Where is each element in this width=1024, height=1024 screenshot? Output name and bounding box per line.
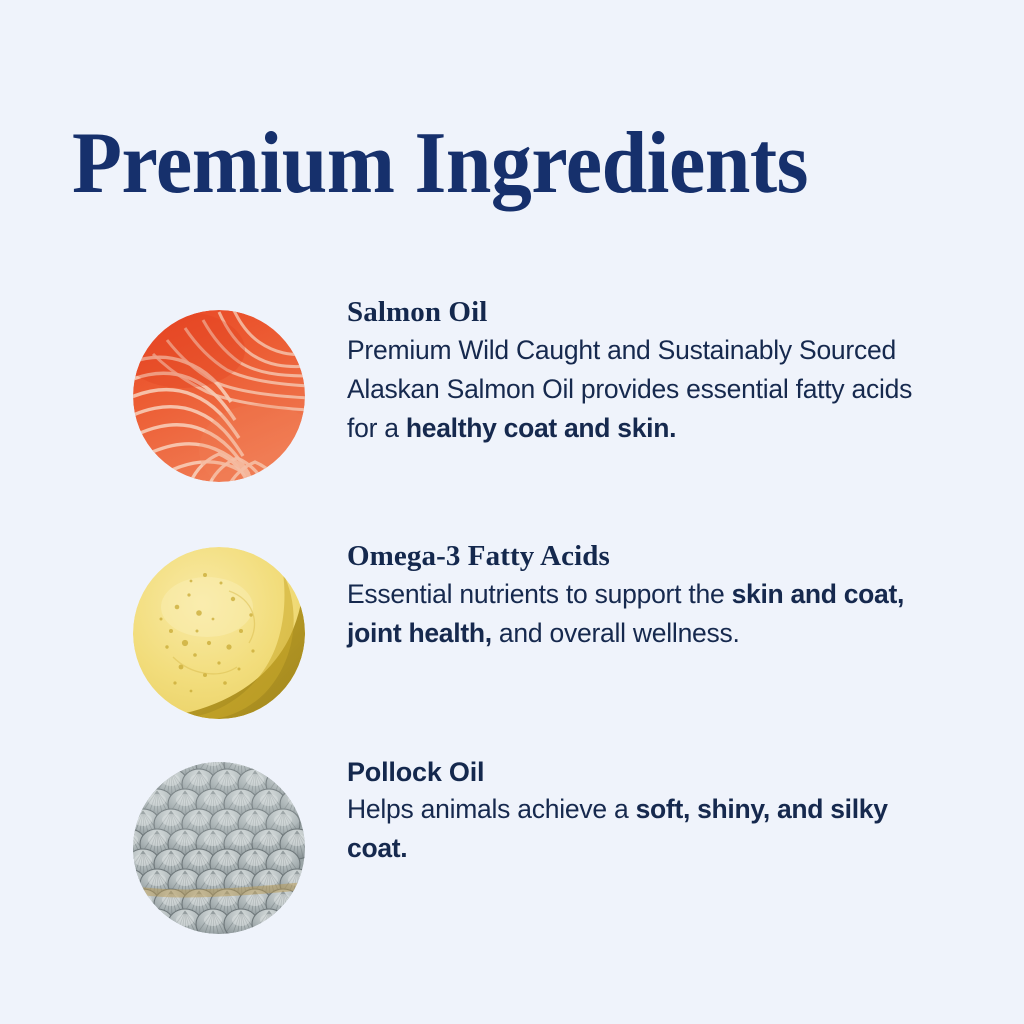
ingredient-heading: Omega-3 Fatty Acids: [347, 540, 947, 574]
ingredient-copy: Pollock Oil Helps animals achieve a soft…: [347, 757, 947, 868]
ingredient-description: Premium Wild Caught and Sustainably Sour…: [347, 331, 947, 448]
ingredient-heading: Salmon Oil: [347, 296, 947, 330]
ingredient-list: Salmon Oil Premium Wild Caught and Susta…: [0, 0, 1024, 1024]
infographic-page: Premium Ingredients: [0, 0, 1024, 1024]
oil-droplet-photo: [133, 547, 305, 719]
salmon-fillet-photo: [133, 310, 305, 482]
ingredient-copy: Omega-3 Fatty Acids Essential nutrients …: [347, 540, 947, 653]
fish-scales-photo: [133, 762, 305, 934]
ingredient-heading: Pollock Oil: [347, 757, 947, 789]
ingredient-copy: Salmon Oil Premium Wild Caught and Susta…: [347, 296, 947, 448]
ingredient-description: Helps animals achieve a soft, shiny, and…: [347, 790, 947, 868]
ingredient-description: Essential nutrients to support the skin …: [347, 575, 947, 653]
